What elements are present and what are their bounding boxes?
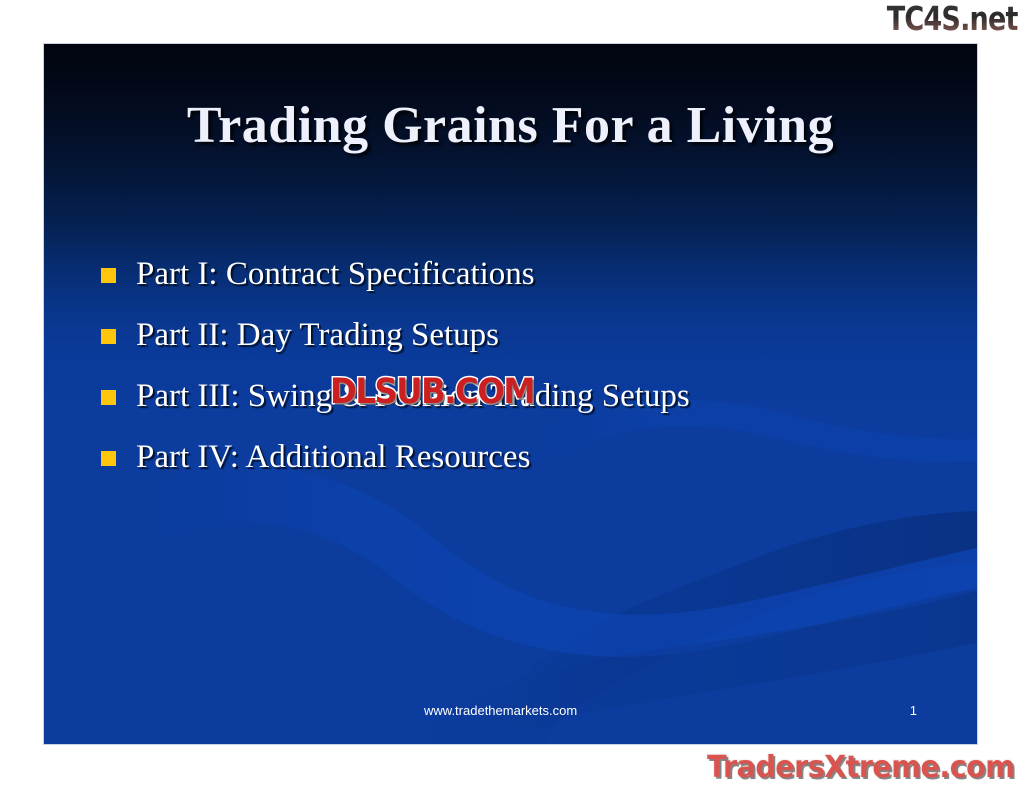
list-item-label: Part IV: Additional Resources [136,435,530,479]
tc4s-watermark: TC4S.net [887,2,1018,36]
slide-footer: www.tradethemarkets.com 1 [44,702,977,720]
square-bullet-icon [101,268,116,283]
page-title: Trading Grains For a Living [44,97,977,155]
tradersxtreme-watermark: TradersXtreme.com [707,751,1014,785]
list-item: Part II: Day Trading Setups [101,313,947,357]
list-item: Part IV: Additional Resources [101,435,947,479]
list-item-label: Part II: Day Trading Setups [136,313,499,357]
list-item: Part I: Contract Specifications [101,252,947,296]
footer-url: www.tradethemarkets.com [424,702,577,720]
slide-number: 1 [910,702,917,720]
square-bullet-icon [101,390,116,405]
square-bullet-icon [101,329,116,344]
list-item-label: Part I: Contract Specifications [136,252,535,296]
dlsub-watermark: DLSUB.COM [330,372,534,412]
square-bullet-icon [101,451,116,466]
page-canvas: TC4S.net Trading Grains For a Living [0,0,1024,791]
